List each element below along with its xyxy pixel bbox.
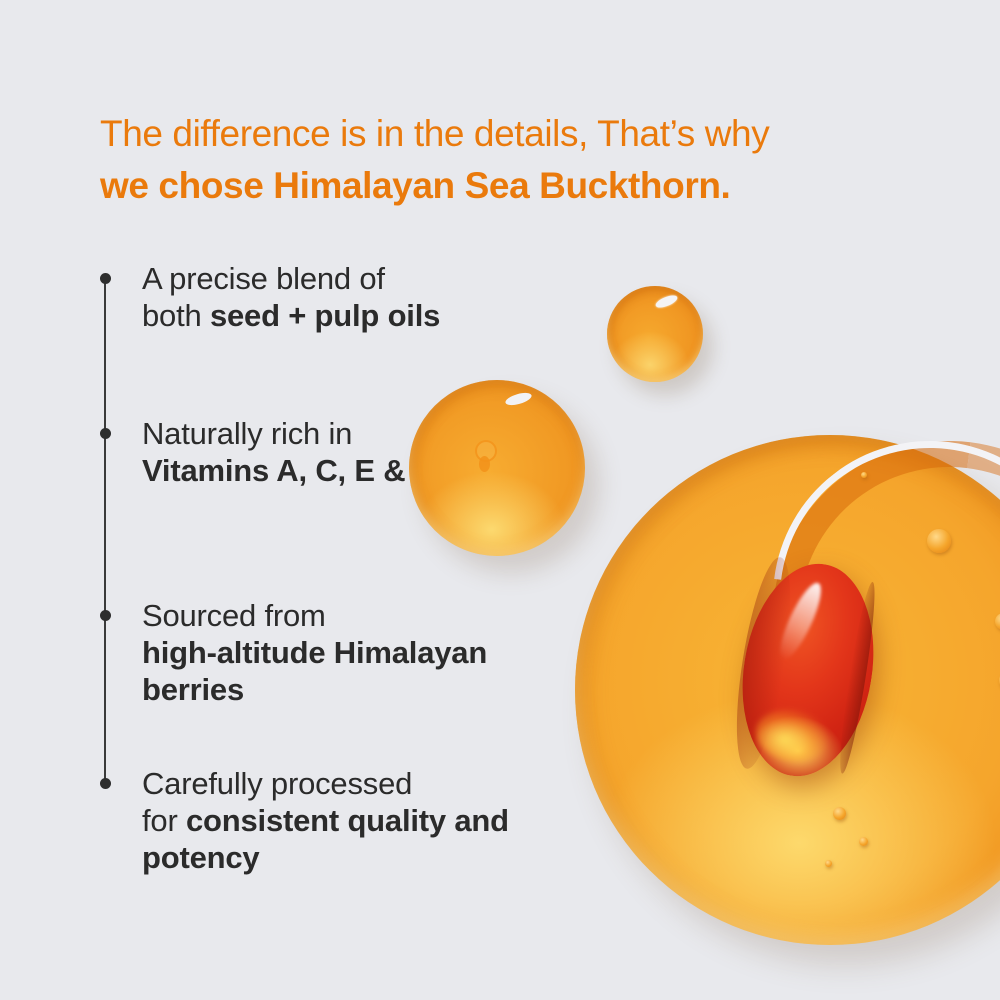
bullet-3-regular-2: for [142,803,186,838]
page-title: The difference is in the details, That’s… [100,108,930,212]
bubble-icon [927,529,951,553]
bullet-connector-line [104,278,106,780]
oil-droplet-small [607,286,703,382]
headline-line-2: we chose Himalayan Sea Buckthorn. [100,160,930,212]
bullet-dot-icon [100,273,111,284]
list-item-text: A precise blend of both seed + pulp oils [142,260,512,334]
bullet-1-regular-1: Naturally rich in [142,416,352,451]
bubble-icon [833,807,846,820]
droplet-rim [607,286,703,382]
droplet-rim [409,380,585,556]
list-item-text: Carefully processed for consistent quali… [142,765,512,876]
bullet-dot-icon [100,610,111,621]
bullet-2-bold: high-altitude Himalayan berries [142,635,487,707]
bullet-dot-icon [100,778,111,789]
bubble-icon [825,860,832,867]
list-item-text: Sourced from high-altitude Himalayan ber… [142,597,512,708]
bullet-1-bold: Vitamins A, C, E & K [142,453,436,488]
bullet-0-regular-1: A precise blend of [142,261,385,296]
infographic-canvas: The difference is in the details, That’s… [0,0,1000,1000]
oil-droplet-medium [409,380,585,556]
bubble-icon [861,472,867,478]
headline-line-1: The difference is in the details, That’s… [100,108,930,160]
bullet-0-regular-2: both [142,298,210,333]
bullet-dot-icon [100,428,111,439]
bubble-icon [859,837,868,846]
bullet-2-regular-1: Sourced from [142,598,326,633]
bullet-0-bold: seed + pulp oils [210,298,440,333]
bullet-3-bold: consistent quality and potency [142,803,509,875]
bullet-3-regular-1: Carefully processed [142,766,412,801]
bubble-tail-icon [479,456,490,472]
